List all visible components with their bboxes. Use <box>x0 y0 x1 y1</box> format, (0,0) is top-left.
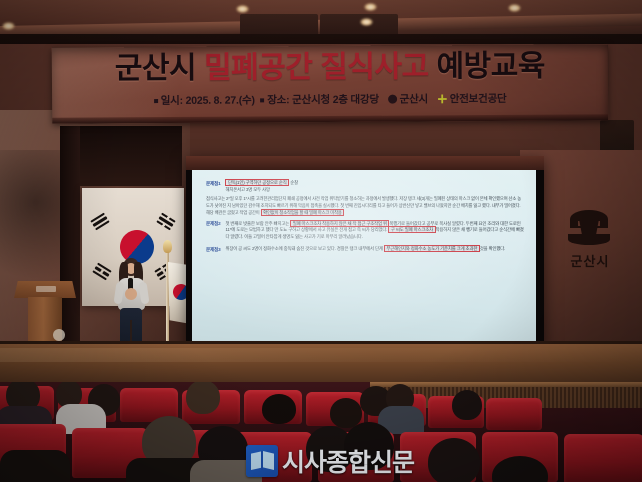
gunsan-city-icon <box>388 95 397 104</box>
bullet-square-icon <box>154 99 158 103</box>
screen-top-bar <box>186 156 544 170</box>
banner-title-part2: 밀폐공간 질식사고 <box>204 50 429 84</box>
banner-org2: 안전보건공단 <box>450 93 507 105</box>
slide-body-2: 첫 번째로 밧줄한 보람 안주 빠지고는 밀폐 마스크조차 착용하지 않은 채 … <box>225 221 524 241</box>
podium-emblem-icon <box>53 329 65 341</box>
wood-rail-cap <box>370 382 642 387</box>
banner-title-part1: 군산시 <box>115 52 197 85</box>
slide-paragraph-text: 점식사고는 2*일 오후 1*시를 고려한관리업단지 폐쇄 공정에서 사전 작업… <box>206 196 521 215</box>
slide-row: 문제점2 첫 번째로 밧줄한 보람 안주 빠지고는 밀폐 마스크조차 착용하지 … <box>206 221 524 241</box>
auditorium-seat <box>486 398 542 430</box>
downlight-icon <box>236 5 249 13</box>
audience-head <box>452 390 482 420</box>
bullet-square-icon <box>260 98 264 102</box>
auditorium-seat <box>564 434 642 482</box>
slide-body-3: 위장이 공 씨도 2명이 정화수소에 중독돼 숨진 것으로 보고 있다. 경찰은… <box>225 246 505 253</box>
audience-shoulders <box>0 450 70 482</box>
projection-screen-frame: 문제점1 단독(1인) 구역하던 공정으로 순직 순찰 해치온서고 3명 모두 … <box>186 156 544 348</box>
slide-highlight: 단독(1인) 구역하던 공정으로 순직 <box>225 179 289 186</box>
downlight-icon <box>364 3 377 11</box>
audience-head <box>262 394 296 424</box>
slide-highlight: 확인없이 청소작업을 할 때 밀폐 마스크 미착용 <box>261 209 345 216</box>
banner-date-value: 2025. 8. 27.(수) <box>186 94 255 106</box>
trigram-icon <box>156 213 175 231</box>
news-watermark: 시사종합신문 <box>246 443 414 479</box>
trigram-icon <box>90 213 109 231</box>
slide-line2: 해치온서고 3명 모두 사망 <box>225 187 298 194</box>
slide-highlight: 밀폐 마스크조차 착용하지 않은 채 작 접근 구조작업 위 <box>290 220 389 227</box>
projection-screen: 문제점1 단독(1인) 구역하던 공정으로 순직 순찰 해치온서고 3명 모두 … <box>192 170 536 342</box>
stage-floor-reflection <box>0 348 642 362</box>
flag-pole-finial <box>163 240 172 253</box>
banner-title-part3: 예방교육 <box>436 50 545 84</box>
banner-subtitle: 일시: 2025. 8. 27.(수) 장소: 군산시청 2층 대강당 군산시 … <box>52 90 608 108</box>
audience-head <box>428 438 480 482</box>
slide-highlight: 구 씨도 밀폐 마스크조차 <box>388 226 435 233</box>
banner-date-label: 일시: <box>161 95 183 107</box>
slide-row: 문제점1 단독(1인) 구역하던 공정으로 순직 순찰 해치온서고 3명 모두 … <box>206 180 524 194</box>
slide-paragraph-1: 점식사고는 2*일 오후 1*시를 고려한관리업단지 폐쇄 공정에서 사전 작업… <box>206 196 524 217</box>
downlight-icon <box>360 18 373 26</box>
gunsan-city-name: 군산시 <box>562 251 618 270</box>
banner-org1: 군산시 <box>400 93 428 105</box>
open-book-logo-icon <box>246 445 278 477</box>
lecture-hall-photo: 군산시 밀폐공간 질식사고 예방교육 일시: 2025. 8. 27.(수) 장… <box>0 0 642 482</box>
slide-row: 문제점3 위장이 공 씨도 2명이 정화수소에 중독돼 숨진 것으로 보고 있다… <box>206 246 524 253</box>
presenter-hands <box>125 288 137 300</box>
podium-nameplate <box>36 286 56 292</box>
slide-text: 첫 번째로 밧줄한 보람 안주 빠지고는 <box>225 221 290 226</box>
slide-highlight: 부근해인지와 정화수소 농도가 기준치를 크게 초과한 <box>384 245 480 252</box>
slide-label-problem1: 문제점1 <box>206 180 220 194</box>
slide-label-problem3: 문제점3 <box>206 246 220 253</box>
presenter-arm <box>139 282 150 305</box>
banner-place-label: 장소: <box>267 94 289 106</box>
slide-label-problem2: 문제점2 <box>206 221 220 241</box>
downlight-icon <box>508 4 521 12</box>
slide-lead-rest: 순찰 <box>289 180 298 185</box>
event-banner: 군산시 밀폐공간 질식사고 예방교육 일시: 2025. 8. 27.(수) 장… <box>52 44 608 123</box>
kosha-cross-icon <box>438 95 447 104</box>
audience-head <box>186 382 220 414</box>
banner-title: 군산시 밀폐공간 질식사고 예방교육 <box>52 50 608 85</box>
presentation-slide: 문제점1 단독(1인) 구역하던 공정으로 순직 순찰 해치온서고 3명 모두 … <box>192 170 536 342</box>
news-outlet-name: 시사종합신문 <box>282 443 414 479</box>
podium-top <box>14 281 76 298</box>
slide-text: 것을 확인했다. <box>480 246 505 251</box>
slide-body-1: 단독(1인) 구역하던 공정으로 순직 순찰 해치온서고 3명 모두 사망 <box>225 180 298 194</box>
banner-place-value: 군산시청 2층 대강당 <box>292 94 379 107</box>
slide-text: 위장이 공 씨도 2명이 정화수소에 중독돼 숨진 것으로 보고 있다. 경찰은… <box>225 246 383 251</box>
gunsan-logo-icon <box>566 210 612 246</box>
downlight-icon <box>2 22 15 30</box>
trigram-icon <box>92 263 111 281</box>
